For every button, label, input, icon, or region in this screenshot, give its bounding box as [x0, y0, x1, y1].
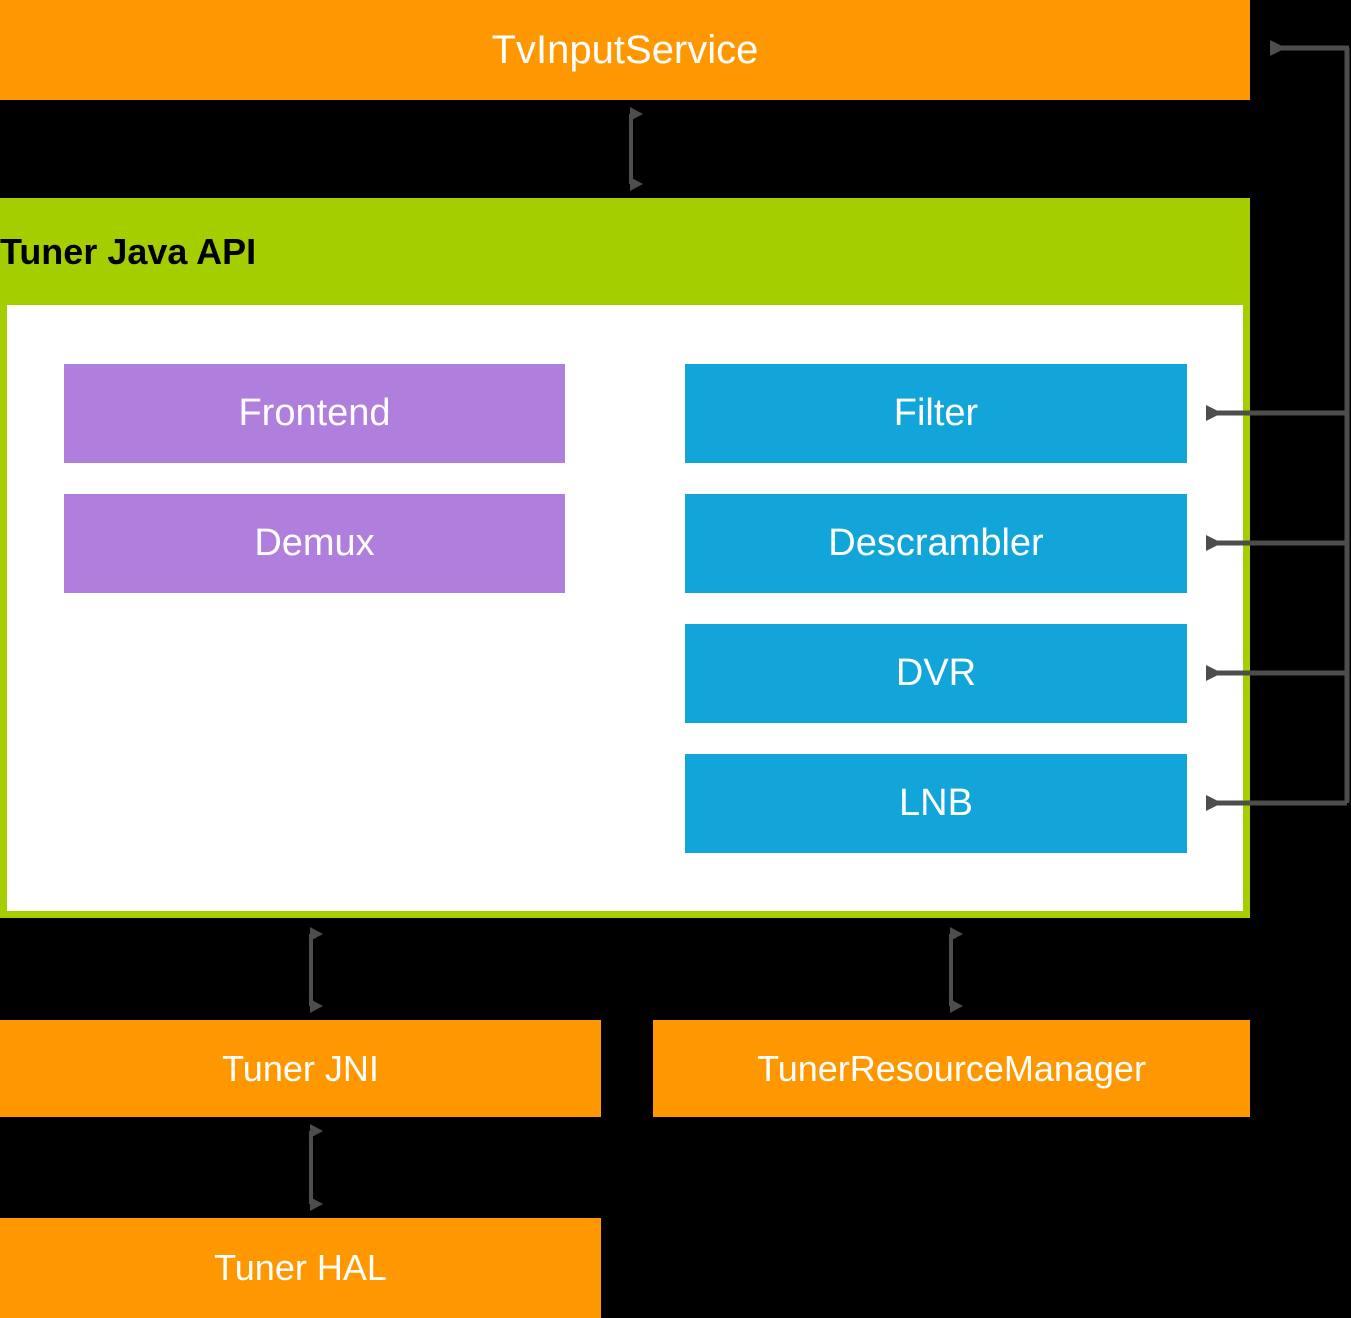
- node-descrambler-label: Descrambler: [685, 523, 1187, 565]
- node-tuner-java-api-header: Tuner Java API: [0, 198, 1250, 305]
- node-tv-input-service-label: TvInputService: [0, 28, 1250, 72]
- node-tuner-resource-manager: TunerResourceManager: [653, 1020, 1250, 1117]
- node-lnb: LNB: [685, 754, 1187, 853]
- node-tuner-hal: Tuner HAL: [0, 1218, 601, 1318]
- node-tuner-jni-label: Tuner JNI: [0, 1049, 601, 1089]
- node-frontend-label: Frontend: [64, 393, 565, 435]
- node-descrambler: Descrambler: [685, 494, 1187, 593]
- node-dvr: DVR: [685, 624, 1187, 723]
- node-tv-input-service: TvInputService: [0, 0, 1250, 100]
- tuner-architecture-diagram: TvInputService Tuner Java API Frontend D…: [0, 0, 1351, 1318]
- node-demux-label: Demux: [64, 523, 565, 565]
- node-tuner-resource-manager-label: TunerResourceManager: [653, 1049, 1250, 1089]
- node-filter-label: Filter: [685, 393, 1187, 435]
- node-tuner-java-api-label: Tuner Java API: [0, 231, 1250, 273]
- node-frontend: Frontend: [64, 364, 565, 463]
- node-dvr-label: DVR: [685, 653, 1187, 695]
- node-demux: Demux: [64, 494, 565, 593]
- node-tuner-hal-label: Tuner HAL: [0, 1248, 601, 1288]
- node-lnb-label: LNB: [685, 783, 1187, 825]
- node-filter: Filter: [685, 364, 1187, 463]
- node-tuner-jni: Tuner JNI: [0, 1020, 601, 1117]
